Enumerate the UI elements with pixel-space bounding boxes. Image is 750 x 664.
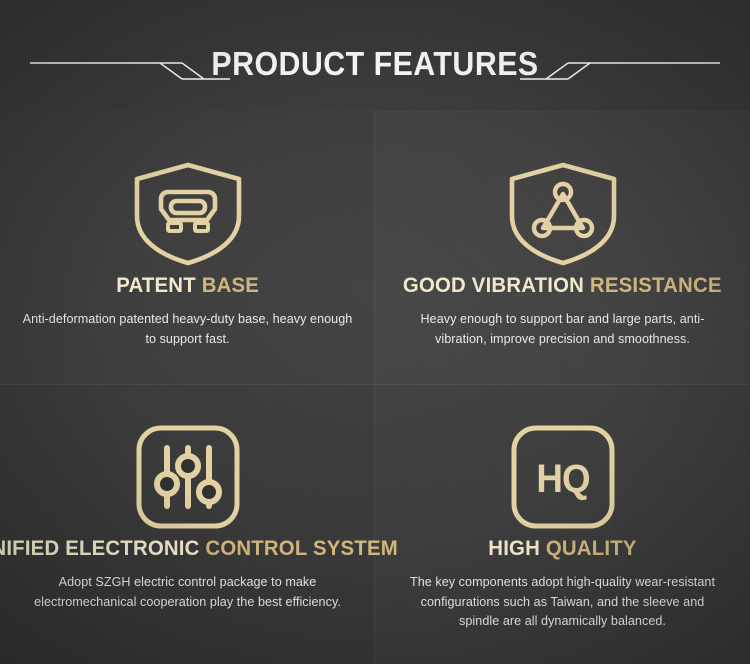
feature-description: Heavy enough to support bar and large pa… — [398, 310, 728, 349]
feature-heading: GOOD VIBRATION RESISTANCE — [403, 274, 722, 298]
feature-heading-lead: HIGH — [488, 537, 546, 560]
shield-base-icon — [128, 160, 248, 268]
product-features-banner: PRODUCT FEATURES PATENT BASE Anti-deform… — [0, 0, 750, 664]
page-title: PRODUCT FEATURES — [30, 45, 720, 83]
feature-description: The key components adopt high-quality we… — [403, 573, 723, 632]
grid-divider-vertical — [374, 110, 375, 664]
feature-heading-lead: GOOD VIBRATION — [403, 274, 590, 297]
feature-card-vibration-resistance: GOOD VIBRATION RESISTANCE Heavy enough t… — [375, 110, 750, 385]
grid-divider-horizontal — [0, 384, 750, 385]
sliders-control-icon — [135, 423, 241, 531]
feature-card-control-system: UNIFIED ELECTRONIC CONTROL SYSTEM Adopt … — [0, 385, 375, 664]
shield-triangle-nodes-icon — [503, 160, 623, 268]
hq-badge-icon: HQ — [510, 423, 616, 531]
feature-grid: PATENT BASE Anti-deformation patented he… — [0, 110, 750, 664]
feature-heading: UNIFIED ELECTRONIC CONTROL SYSTEM — [0, 537, 398, 561]
feature-heading: HIGH QUALITY — [488, 537, 636, 561]
feature-heading-lead: UNIFIED ELECTRONIC — [0, 537, 206, 560]
feature-card-high-quality: HQ HIGH QUALITY The key components adopt… — [375, 385, 750, 664]
feature-heading-tail: QUALITY — [546, 537, 637, 560]
feature-heading: PATENT BASE — [116, 274, 259, 298]
feature-description: Anti-deformation patented heavy-duty bas… — [23, 310, 353, 349]
feature-heading-tail: BASE — [202, 274, 259, 297]
feature-heading-lead: PATENT — [116, 274, 201, 297]
feature-heading-tail: RESISTANCE — [590, 274, 722, 297]
feature-description: Adopt SZGH electric control package to m… — [28, 573, 348, 612]
feature-heading-tail: CONTROL SYSTEM — [206, 537, 398, 560]
banner-header: PRODUCT FEATURES — [0, 0, 750, 110]
feature-card-patent-base: PATENT BASE Anti-deformation patented he… — [0, 110, 375, 385]
